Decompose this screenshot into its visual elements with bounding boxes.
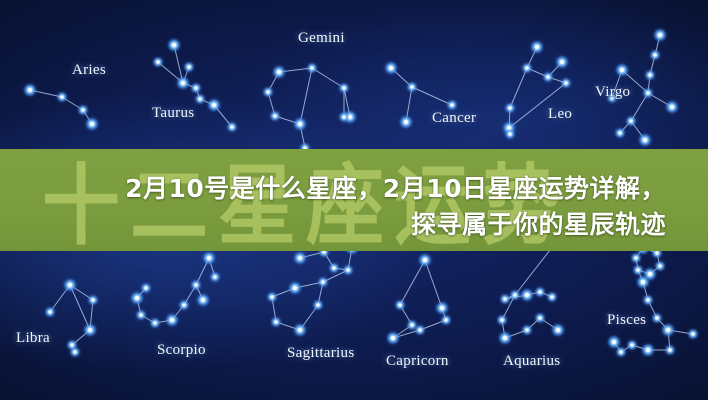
headline-line-2: 探寻属于你的星辰轨迹 xyxy=(40,207,666,243)
headline-text: 2月10号是什么星座，2月10日星座运势详解， 探寻属于你的星辰轨迹 xyxy=(40,171,666,243)
headline-line-1: 2月10号是什么星座，2月10日星座运势详解， xyxy=(40,171,666,207)
zodiac-banner-image: AriesTaurusGeminiCancerLeoVirgoLibraScor… xyxy=(0,0,708,400)
green-title-banner: 十二星座运势 2月10号是什么星座，2月10日星座运势详解， 探寻属于你的星辰轨… xyxy=(0,149,708,251)
